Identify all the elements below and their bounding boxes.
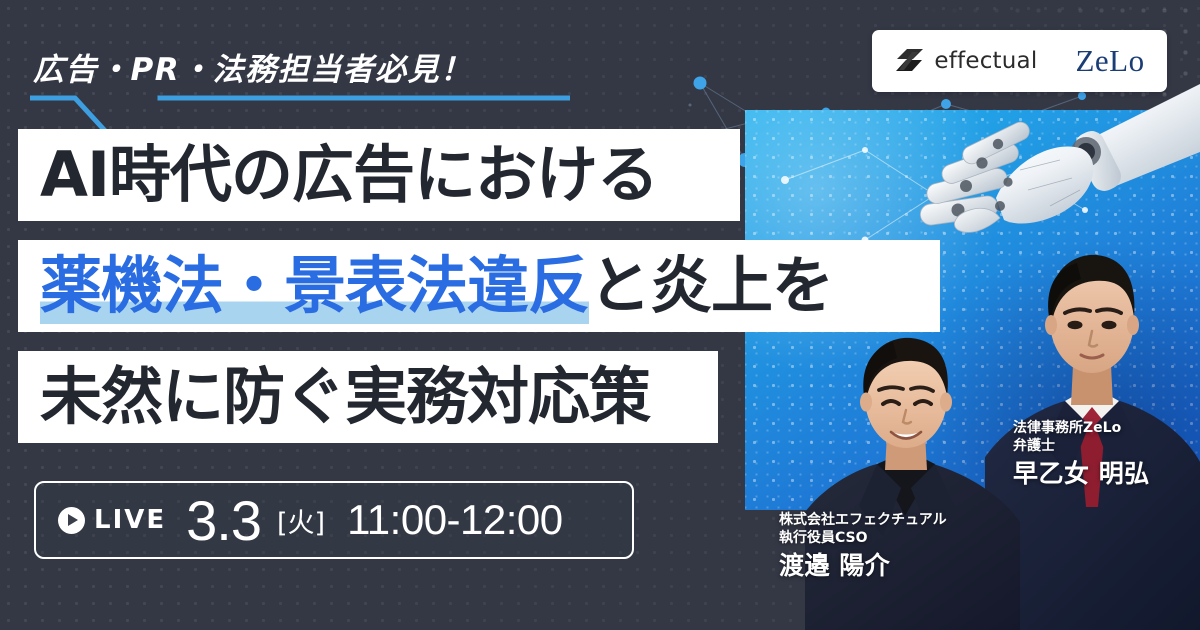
effectual-logo-text: effectual (934, 48, 1037, 74)
live-schedule-badge: LIVE 3.3 [火] 11:00-12:00 (34, 481, 634, 559)
event-day-of-week: [火] (277, 501, 325, 540)
zelo-logo-text: ZeLo (1075, 43, 1144, 79)
headline-band-1: AI時代の広告における (18, 129, 740, 221)
logo-box: effectual ZeLo (872, 30, 1167, 92)
event-date: 3.3 (186, 488, 261, 553)
headline-band-2: 薬機法・景表法違反と炎上を (18, 240, 940, 332)
headline-line-2-rest: と炎上を (589, 249, 833, 322)
headline-line-2-highlight: 薬機法・景表法違反 (40, 249, 589, 324)
live-label: LIVE (94, 505, 166, 535)
headline-line-1: AI時代の広告における (40, 144, 658, 206)
headline-line-2: 薬機法・景表法違反と炎上を (40, 255, 833, 317)
live-pill: LIVE (58, 505, 166, 535)
event-time: 11:00-12:00 (347, 496, 563, 544)
speaker-name: 渡邉 陽介 (779, 550, 947, 582)
headline-band-3: 未然に防ぐ実務対応策 (18, 351, 718, 443)
speaker-credit-saotome: 法律事務所ZeLo 弁護士 早乙女 明弘 (1013, 420, 1150, 490)
eyebrow-text: 広告・PR・法務担当者必見！ (33, 44, 473, 89)
speaker-org: 法律事務所ZeLo (1013, 420, 1150, 438)
headline-line-3: 未然に防ぐ実務対応策 (40, 366, 650, 428)
speaker-name: 早乙女 明弘 (1013, 458, 1150, 490)
speaker-role: 執行役員CSO (779, 530, 947, 548)
speaker-role: 弁護士 (1013, 438, 1150, 456)
speaker-photo-watanabe (805, 330, 1020, 630)
speaker-credit-watanabe: 株式会社エフェクチュアル 執行役員CSO 渡邉 陽介 (779, 512, 947, 582)
speaker-org: 株式会社エフェクチュアル (779, 512, 947, 530)
effectual-logo: effectual (894, 46, 1037, 76)
webinar-banner: effectual ZeLo 広告・PR・法務担当者必見！ AI時代の広告におけ… (0, 0, 1200, 630)
play-icon (58, 507, 85, 534)
effectual-mark-icon (894, 46, 925, 76)
